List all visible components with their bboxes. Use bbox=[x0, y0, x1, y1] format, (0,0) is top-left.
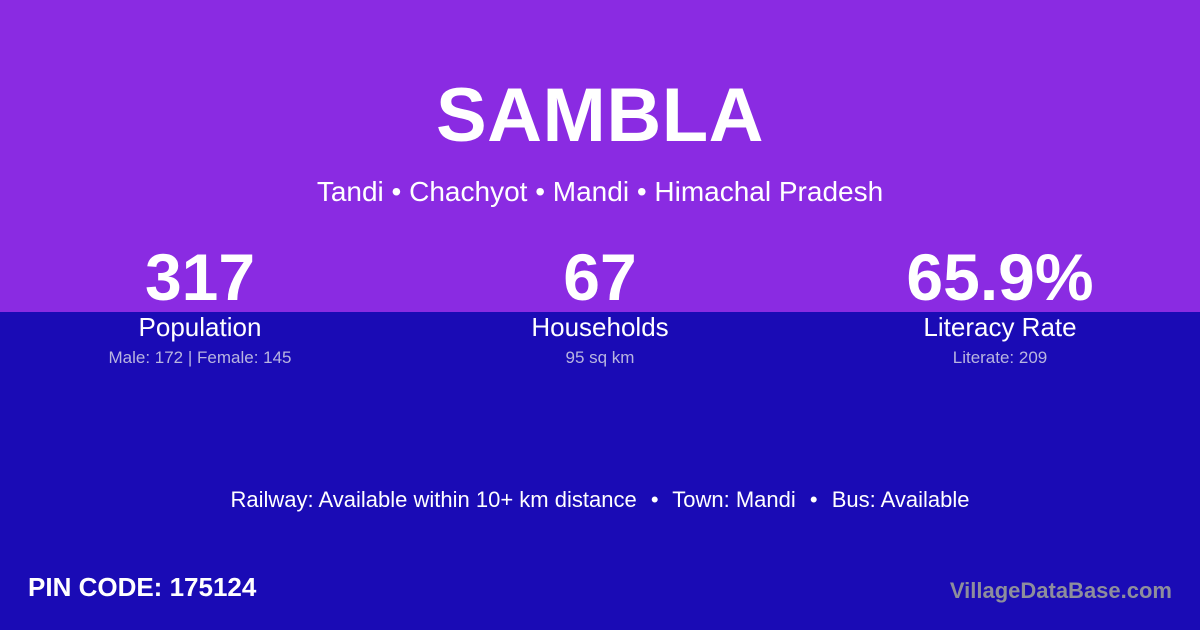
stat-value-literacy-rate: 65.9% bbox=[800, 244, 1200, 312]
stat-label-literacy-rate: Literacy Rate bbox=[800, 312, 1200, 342]
site-watermark: VillageDataBase.com bbox=[950, 578, 1172, 604]
stat-detail-literacy-rate: Literate: 209 bbox=[800, 348, 1200, 368]
stat-label-households: Households bbox=[400, 312, 800, 342]
hero-section: SAMBLA Tandi • Chachyot • Mandi • Himach… bbox=[0, 0, 1200, 206]
transport-separator-1: • bbox=[643, 487, 667, 512]
stat-value-population: 317 bbox=[0, 244, 400, 312]
transport-bus: Bus: Available bbox=[832, 487, 970, 512]
stat-label-population: Population bbox=[0, 312, 400, 342]
transport-info-line: Railway: Available within 10+ km distanc… bbox=[0, 486, 1200, 514]
stat-households: 67 Households 95 sq km bbox=[400, 244, 800, 368]
transport-town: Town: Mandi bbox=[672, 487, 796, 512]
transport-railway: Railway: Available within 10+ km distanc… bbox=[230, 487, 636, 512]
stat-detail-households: 95 sq km bbox=[400, 348, 800, 368]
transport-separator-2: • bbox=[802, 487, 826, 512]
stats-row: 317 Population Male: 172 | Female: 145 6… bbox=[0, 244, 1200, 368]
stat-literacy-rate: 65.9% Literacy Rate Literate: 209 bbox=[800, 244, 1200, 368]
stat-detail-population: Male: 172 | Female: 145 bbox=[0, 348, 400, 368]
stat-population: 317 Population Male: 172 | Female: 145 bbox=[0, 244, 400, 368]
page-title: SAMBLA bbox=[0, 78, 1200, 154]
village-info-card: SAMBLA Tandi • Chachyot • Mandi • Himach… bbox=[0, 0, 1200, 630]
pin-code: PIN CODE: 175124 bbox=[28, 572, 256, 602]
breadcrumb: Tandi • Chachyot • Mandi • Himachal Prad… bbox=[0, 178, 1200, 206]
footer: PIN CODE: 175124 VillageDataBase.com bbox=[0, 558, 1200, 630]
stat-value-households: 67 bbox=[400, 244, 800, 312]
